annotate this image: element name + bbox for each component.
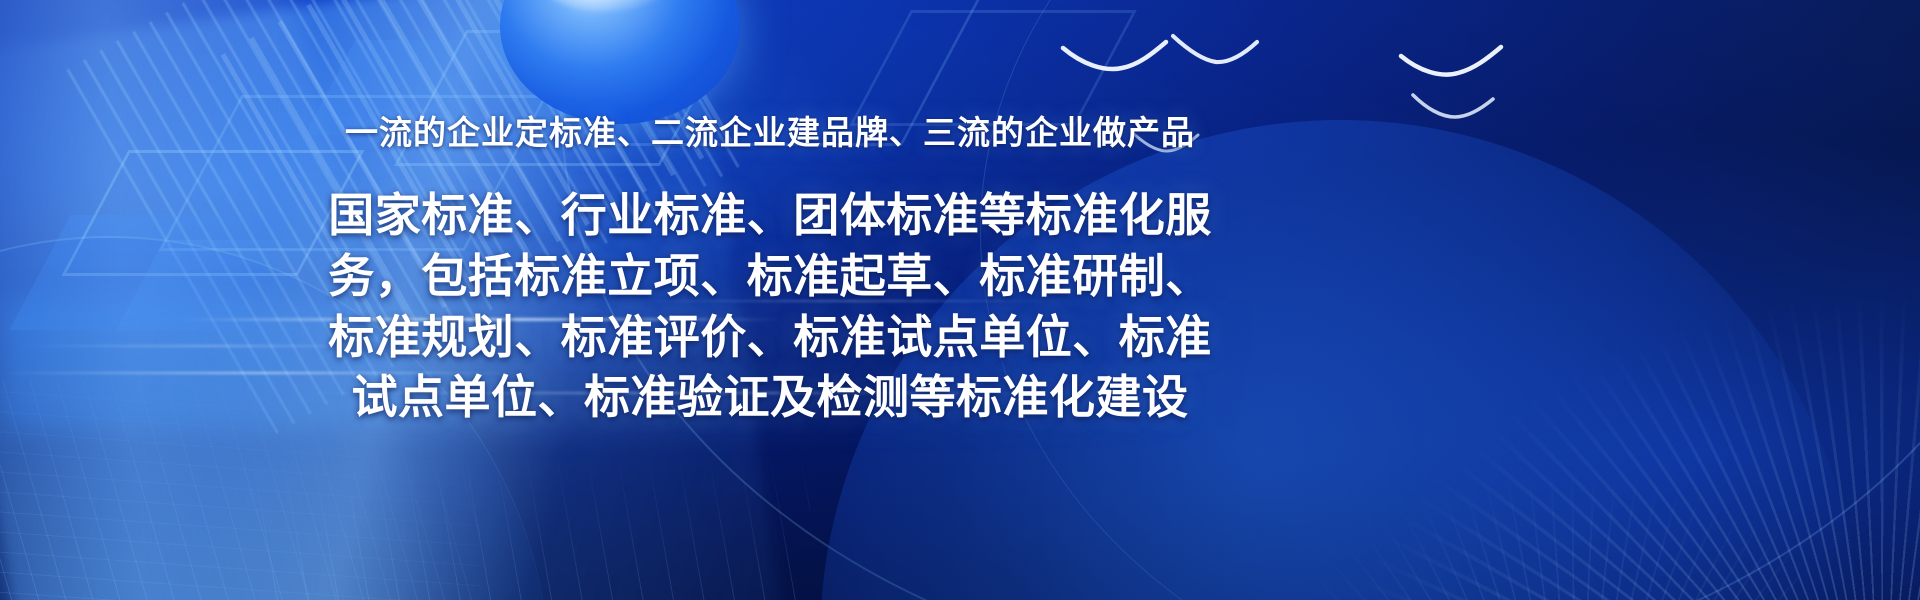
promo-banner: 一流的企业定标准、二流企业建品牌、三流的企业做产品 国家标准、行业标准、团体标准… [0, 0, 1920, 600]
banner-headline: 一流的企业定标准、二流企业建品牌、三流的企业做产品 [345, 112, 1195, 153]
banner-body-line: 标准规划、标准评价、标准试点单位、标准 [260, 307, 1280, 368]
banner-body-text: 国家标准、行业标准、团体标准等标准化服 务，包括标准立项、标准起草、标准研制、 … [260, 185, 1280, 428]
banner-body-line: 试点单位、标准验证及检测等标准化建设 [260, 367, 1280, 428]
banner-content: 一流的企业定标准、二流企业建品牌、三流的企业做产品 国家标准、行业标准、团体标准… [0, 0, 1540, 600]
banner-body-line: 务，包括标准立项、标准起草、标准研制、 [260, 246, 1280, 307]
banner-body-line: 国家标准、行业标准、团体标准等标准化服 [260, 185, 1280, 246]
